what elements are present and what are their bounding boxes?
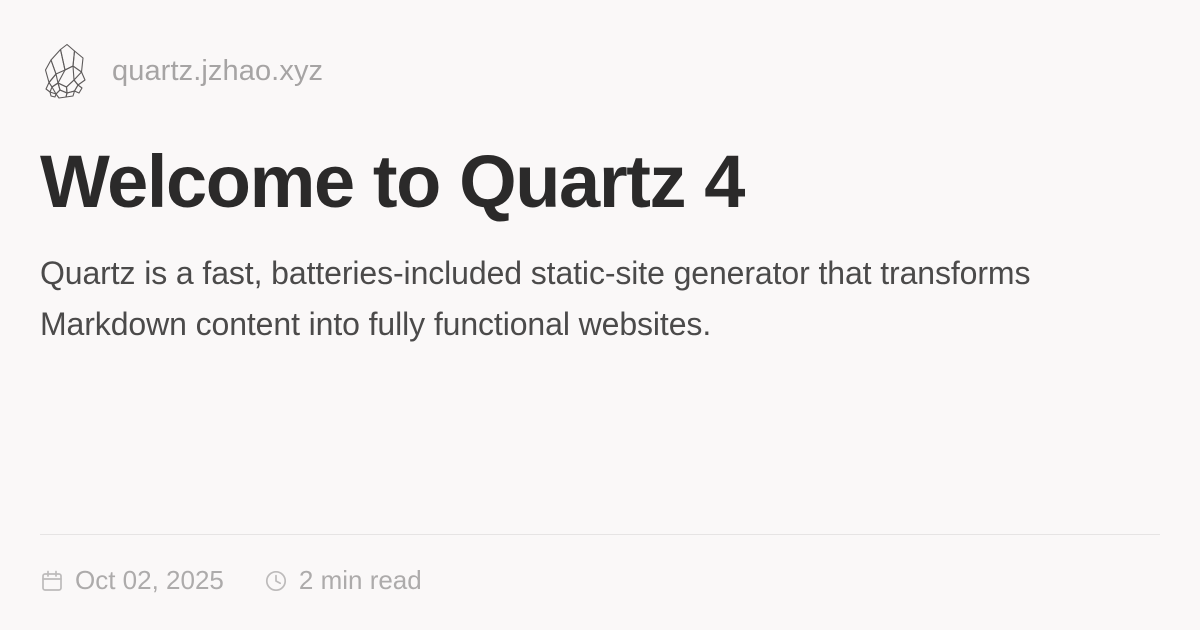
page-description: Quartz is a fast, batteries-included sta…	[40, 248, 1115, 349]
post-read-time: 2 min read	[264, 565, 422, 596]
footer-divider	[40, 534, 1160, 535]
site-brand-header: quartz.jzhao.xyz	[40, 40, 1160, 102]
calendar-icon	[40, 569, 64, 593]
post-date-label: Oct 02, 2025	[75, 565, 224, 596]
post-read-time-label: 2 min read	[299, 565, 422, 596]
quartz-crystal-logo-icon	[40, 42, 94, 100]
clock-icon	[264, 569, 288, 593]
site-domain-label: quartz.jzhao.xyz	[112, 55, 323, 88]
card-footer: Oct 02, 2025 2 min read	[40, 534, 1160, 596]
page-title: Welcome to Quartz 4	[40, 144, 1120, 220]
post-date: Oct 02, 2025	[40, 565, 224, 596]
post-metadata-row: Oct 02, 2025 2 min read	[40, 565, 1160, 596]
open-graph-preview-card: quartz.jzhao.xyz Welcome to Quartz 4 Qua…	[0, 0, 1200, 630]
